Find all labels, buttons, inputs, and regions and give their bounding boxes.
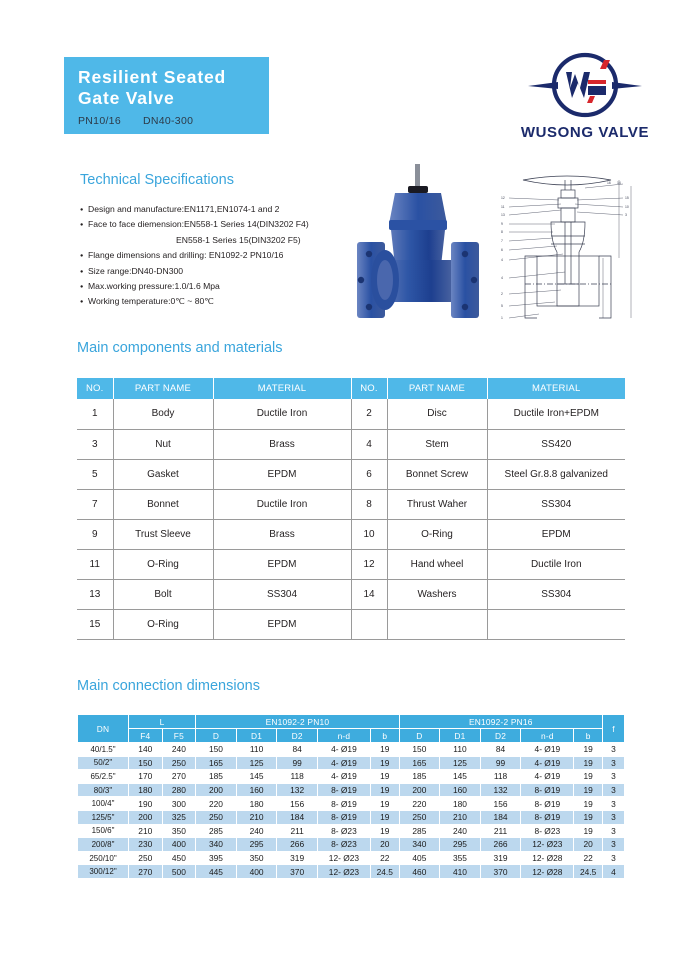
sub-pn16-nd: n-d xyxy=(521,729,574,743)
cell-pn10-d2: 370 xyxy=(277,865,318,879)
cell-pn16-d: 285 xyxy=(399,824,440,838)
cell-no: 8 xyxy=(351,489,387,519)
cell-pn10-d: 150 xyxy=(196,743,237,757)
cell-pn16-b: 20 xyxy=(574,838,603,852)
cell-f4: 270 xyxy=(129,865,163,879)
cell-pn10-b: 19 xyxy=(370,770,399,784)
cell-pn10-d1: 145 xyxy=(236,770,277,784)
sub-f5: F5 xyxy=(162,729,196,743)
cell-dn: 65/2.5" xyxy=(78,770,129,784)
cell-material: Ductile Iron xyxy=(213,489,351,519)
group-dn: DN xyxy=(78,715,129,743)
cell-material: SS304 xyxy=(213,579,351,609)
cell-pn16-d: 165 xyxy=(399,756,440,770)
cell-pn10-d2: 132 xyxy=(277,783,318,797)
table-row: 15O-RingEPDM xyxy=(77,609,625,639)
sub-pn16-d: D xyxy=(399,729,440,743)
cell-f4: 250 xyxy=(129,851,163,865)
cell-no: 1 xyxy=(77,399,113,429)
col-material-left: MATERIAL xyxy=(213,378,351,399)
cell-pn16-d1: 145 xyxy=(440,770,481,784)
cell-no: 9 xyxy=(77,519,113,549)
col-no-left: NO. xyxy=(77,378,113,399)
cell-pn10-d: 340 xyxy=(196,838,237,852)
sub-pn10-d2: D2 xyxy=(277,729,318,743)
components-header-row: NO. PART NAME MATERIAL NO. PART NAME MAT… xyxy=(77,378,625,399)
cell-f4: 210 xyxy=(129,824,163,838)
cell-part: Bonnet xyxy=(113,489,213,519)
cell-pn16-nd: 8- Ø19 xyxy=(521,797,574,811)
cell-f4: 140 xyxy=(129,743,163,757)
title-banner: Resilient SeatedGate Valve PN10/16DN40-3… xyxy=(64,57,269,134)
cell-f: 3 xyxy=(603,797,625,811)
svg-text:4: 4 xyxy=(501,258,503,262)
cell-pn16-d1: 410 xyxy=(440,865,481,879)
table-row: 80/3"1802802001601328- Ø19192001601328- … xyxy=(78,783,625,797)
cell-pn10-d2: 184 xyxy=(277,810,318,824)
cell-dn: 250/10" xyxy=(78,851,129,865)
cell-pn16-d2: 156 xyxy=(480,797,521,811)
cell-no: 13 xyxy=(77,579,113,609)
cell-pn16-d1: 110 xyxy=(440,743,481,757)
table-row: 250/10"25045039535031912- Ø2322405355319… xyxy=(78,851,625,865)
cell-f: 4 xyxy=(603,865,625,879)
cell-pn10-d1: 125 xyxy=(236,756,277,770)
cell-pn16-nd: 8- Ø23 xyxy=(521,824,574,838)
cell-part: Disc xyxy=(387,399,487,429)
product-title: Resilient SeatedGate Valve xyxy=(78,67,269,109)
cell-pn16-d2: 266 xyxy=(480,838,521,852)
cell-pn10-d: 395 xyxy=(196,851,237,865)
table-row: 13BoltSS30414WashersSS304 xyxy=(77,579,625,609)
cell-material: Ductile Iron xyxy=(213,399,351,429)
cell-pn16-d2: 211 xyxy=(480,824,521,838)
cell-pn10-d2: 84 xyxy=(277,743,318,757)
cell-f4: 200 xyxy=(129,810,163,824)
svg-text:3: 3 xyxy=(625,213,627,217)
cell-pn10-d2: 99 xyxy=(277,756,318,770)
cell-pn16-d1: 180 xyxy=(440,797,481,811)
cell-dn: 300/12" xyxy=(78,865,129,879)
table-row: 1BodyDuctile Iron2DiscDuctile Iron+EPDM xyxy=(77,399,625,429)
group-f: f xyxy=(603,715,625,743)
cell-pn10-d1: 350 xyxy=(236,851,277,865)
components-heading: Main components and materials xyxy=(77,340,625,356)
cell-no: 12 xyxy=(351,549,387,579)
cell-pn16-nd: 12- Ø23 xyxy=(521,838,574,852)
cell-pn10-d: 285 xyxy=(196,824,237,838)
sub-pn10-d1: D1 xyxy=(236,729,277,743)
svg-text:5: 5 xyxy=(501,304,503,308)
main-connection-dimensions-section: Main connection dimensions DN L EN1092-2… xyxy=(77,678,625,879)
svg-text:8: 8 xyxy=(501,230,503,234)
cell-f: 3 xyxy=(603,783,625,797)
table-row: 300/12"27050044540037012- Ø2324.54604103… xyxy=(78,865,625,879)
pressure-rating: PN10/16 xyxy=(78,115,121,127)
svg-text:11: 11 xyxy=(501,205,505,209)
cell-pn10-d: 220 xyxy=(196,797,237,811)
cell-pn10-b: 19 xyxy=(370,824,399,838)
cell-pn16-d2: 84 xyxy=(480,743,521,757)
cell-pn10-d1: 240 xyxy=(236,824,277,838)
cell-pn10-d: 185 xyxy=(196,770,237,784)
dimensions-body: 40/1.5"140240150110844- Ø1919150110844- … xyxy=(78,743,625,879)
table-row: 3NutBrass4StemSS420 xyxy=(77,429,625,459)
cell-part: Thrust Waher xyxy=(387,489,487,519)
cell-f4: 190 xyxy=(129,797,163,811)
cell-pn16-d1: 355 xyxy=(440,851,481,865)
cell-pn16-nd: 8- Ø19 xyxy=(521,810,574,824)
cell-pn10-b: 19 xyxy=(370,756,399,770)
cell-dn: 150/6" xyxy=(78,824,129,838)
cell-no xyxy=(351,609,387,639)
cell-pn10-nd: 4- Ø19 xyxy=(317,770,370,784)
cell-material: EPDM xyxy=(487,519,625,549)
cell-part: O-Ring xyxy=(113,609,213,639)
cell-pn10-b: 19 xyxy=(370,797,399,811)
cell-pn10-d2: 118 xyxy=(277,770,318,784)
cell-pn10-d: 445 xyxy=(196,865,237,879)
cell-pn16-nd: 4- Ø19 xyxy=(521,743,574,757)
cell-pn16-d2: 319 xyxy=(480,851,521,865)
brand-name: WUSONG VALVE xyxy=(500,124,670,141)
cell-pn16-nd: 12- Ø28 xyxy=(521,851,574,865)
cell-pn10-d1: 295 xyxy=(236,838,277,852)
svg-text:13: 13 xyxy=(501,213,505,217)
cell-f5: 450 xyxy=(162,851,196,865)
cell-pn10-b: 19 xyxy=(370,783,399,797)
cell-no: 4 xyxy=(351,429,387,459)
cell-material: SS304 xyxy=(487,489,625,519)
cell-pn16-b: 19 xyxy=(574,756,603,770)
cell-pn16-d1: 240 xyxy=(440,824,481,838)
dimensions-group-header-row: DN L EN1092-2 PN10 EN1092-2 PN16 f xyxy=(78,715,625,729)
group-pn10: EN1092-2 PN10 xyxy=(196,715,399,729)
cell-pn10-d2: 266 xyxy=(277,838,318,852)
svg-text:4: 4 xyxy=(501,276,503,280)
cell-f5: 250 xyxy=(162,756,196,770)
col-partname-right: PART NAME xyxy=(387,378,487,399)
cell-pn10-d1: 180 xyxy=(236,797,277,811)
table-row: 150/6"2103502852402118- Ø23192852402118-… xyxy=(78,824,625,838)
cell-pn16-d2: 184 xyxy=(480,810,521,824)
cell-pn16-d1: 295 xyxy=(440,838,481,852)
cell-pn16-d: 150 xyxy=(399,743,440,757)
gate-valve-cross-section-drawing: 121113 987 644 251 15103 1416 xyxy=(495,166,640,326)
components-table: NO. PART NAME MATERIAL NO. PART NAME MAT… xyxy=(77,378,625,640)
sub-f4: F4 xyxy=(129,729,163,743)
cell-material xyxy=(487,609,625,639)
cell-pn16-nd: 4- Ø19 xyxy=(521,756,574,770)
cell-f4: 150 xyxy=(129,756,163,770)
cell-pn10-d2: 156 xyxy=(277,797,318,811)
cell-pn16-nd: 8- Ø19 xyxy=(521,783,574,797)
wusong-circle-w-logo-icon xyxy=(500,52,670,120)
cell-pn16-b: 24.5 xyxy=(574,865,603,879)
cell-part: Gasket xyxy=(113,459,213,489)
cell-f: 3 xyxy=(603,810,625,824)
cell-f5: 350 xyxy=(162,824,196,838)
product-title-line2: Gate Valve xyxy=(78,88,175,108)
cell-pn10-d1: 110 xyxy=(236,743,277,757)
cell-part: Nut xyxy=(113,429,213,459)
cell-no: 5 xyxy=(77,459,113,489)
cell-pn16-d2: 99 xyxy=(480,756,521,770)
cell-f: 3 xyxy=(603,851,625,865)
company-logo: WUSONG VALVE xyxy=(500,52,670,141)
cell-pn16-b: 19 xyxy=(574,743,603,757)
cell-f: 3 xyxy=(603,838,625,852)
cell-material: SS420 xyxy=(487,429,625,459)
cell-material: Steel Gr.8.8 galvanized xyxy=(487,459,625,489)
dimensions-heading: Main connection dimensions xyxy=(77,678,625,694)
cell-pn10-b: 24.5 xyxy=(370,865,399,879)
cell-pn16-d: 405 xyxy=(399,851,440,865)
cell-no: 15 xyxy=(77,609,113,639)
cell-dn: 40/1.5" xyxy=(78,743,129,757)
table-row: 50/2"150250165125994- Ø1919165125994- Ø1… xyxy=(78,756,625,770)
cell-f5: 280 xyxy=(162,783,196,797)
cell-material: Ductile Iron xyxy=(487,549,625,579)
cell-dn: 200/8" xyxy=(78,838,129,852)
cell-pn10-nd: 8- Ø19 xyxy=(317,810,370,824)
group-pn16: EN1092-2 PN16 xyxy=(399,715,602,729)
cell-no: 11 xyxy=(77,549,113,579)
cell-pn16-b: 19 xyxy=(574,783,603,797)
group-l: L xyxy=(129,715,196,729)
svg-text:14: 14 xyxy=(617,181,621,185)
cell-dn: 80/3" xyxy=(78,783,129,797)
cell-material: EPDM xyxy=(213,459,351,489)
product-title-line1: Resilient Seated xyxy=(78,67,226,87)
cell-material: EPDM xyxy=(213,609,351,639)
cell-pn16-b: 19 xyxy=(574,797,603,811)
cell-part: Bolt xyxy=(113,579,213,609)
cell-pn16-b: 19 xyxy=(574,770,603,784)
cell-pn16-b: 22 xyxy=(574,851,603,865)
svg-text:6: 6 xyxy=(501,248,503,252)
cell-f5: 240 xyxy=(162,743,196,757)
cell-pn10-nd: 8- Ø19 xyxy=(317,797,370,811)
cell-pn10-d: 165 xyxy=(196,756,237,770)
dimensions-sub-header-row: F4 F5 D D1 D2 n-d b D D1 D2 n-d b xyxy=(78,729,625,743)
cell-pn16-d1: 160 xyxy=(440,783,481,797)
cell-f: 3 xyxy=(603,770,625,784)
table-row: 200/8"2304003402952668- Ø232034029526612… xyxy=(78,838,625,852)
table-row: 9Trust SleeveBrass10O-RingEPDM xyxy=(77,519,625,549)
table-row: 5GasketEPDM6Bonnet ScrewSteel Gr.8.8 gal… xyxy=(77,459,625,489)
col-partname-left: PART NAME xyxy=(113,378,213,399)
cell-pn16-d: 340 xyxy=(399,838,440,852)
cell-pn16-b: 19 xyxy=(574,810,603,824)
main-components-section: Main components and materials NO. PART N… xyxy=(77,340,625,640)
cell-f4: 180 xyxy=(129,783,163,797)
cell-f4: 170 xyxy=(129,770,163,784)
cell-pn16-b: 19 xyxy=(574,824,603,838)
cell-pn10-d2: 211 xyxy=(277,824,318,838)
cell-pn16-d1: 210 xyxy=(440,810,481,824)
cell-f5: 300 xyxy=(162,797,196,811)
dimensions-table: DN L EN1092-2 PN10 EN1092-2 PN16 f F4 F5… xyxy=(77,714,625,879)
cell-f4: 230 xyxy=(129,838,163,852)
cell-part: Stem xyxy=(387,429,487,459)
cell-pn16-d2: 370 xyxy=(480,865,521,879)
cell-pn10-nd: 8- Ø23 xyxy=(317,824,370,838)
sub-pn10-d: D xyxy=(196,729,237,743)
cell-pn10-b: 20 xyxy=(370,838,399,852)
cell-material: SS304 xyxy=(487,579,625,609)
cell-pn10-d1: 400 xyxy=(236,865,277,879)
cell-material: Ductile Iron+EPDM xyxy=(487,399,625,429)
svg-text:16: 16 xyxy=(607,181,611,185)
cell-no: 6 xyxy=(351,459,387,489)
sub-pn16-d2: D2 xyxy=(480,729,521,743)
cell-pn16-d1: 125 xyxy=(440,756,481,770)
cell-part: Bonnet Screw xyxy=(387,459,487,489)
cell-dn: 100/4" xyxy=(78,797,129,811)
cell-pn16-d: 200 xyxy=(399,783,440,797)
cell-pn10-nd: 4- Ø19 xyxy=(317,743,370,757)
product-subtitle: PN10/16DN40-300 xyxy=(78,115,269,127)
cell-f: 3 xyxy=(603,756,625,770)
blue-flanged-gate-valve-photo xyxy=(343,162,503,330)
cell-part: Washers xyxy=(387,579,487,609)
cell-pn10-nd: 12- Ø23 xyxy=(317,865,370,879)
cell-dn: 125/5" xyxy=(78,810,129,824)
cell-pn16-d: 185 xyxy=(399,770,440,784)
cell-f5: 500 xyxy=(162,865,196,879)
svg-text:7: 7 xyxy=(501,239,503,243)
cell-pn16-d: 250 xyxy=(399,810,440,824)
cell-pn10-nd: 4- Ø19 xyxy=(317,756,370,770)
cell-pn16-d: 460 xyxy=(399,865,440,879)
cell-part: O-Ring xyxy=(113,549,213,579)
cell-no: 10 xyxy=(351,519,387,549)
table-row: 65/2.5"1702701851451184- Ø19191851451184… xyxy=(78,770,625,784)
cell-no: 2 xyxy=(351,399,387,429)
col-material-right: MATERIAL xyxy=(487,378,625,399)
svg-text:15: 15 xyxy=(625,196,629,200)
cell-f: 3 xyxy=(603,824,625,838)
cell-pn10-d: 200 xyxy=(196,783,237,797)
table-row: 7BonnetDuctile Iron8Thrust WaherSS304 xyxy=(77,489,625,519)
sub-pn10-b: b xyxy=(370,729,399,743)
svg-text:9: 9 xyxy=(501,222,503,226)
components-body: 1BodyDuctile Iron2DiscDuctile Iron+EPDM … xyxy=(77,399,625,639)
page-header: Resilient SeatedGate Valve PN10/16DN40-3… xyxy=(0,0,700,150)
svg-text:12: 12 xyxy=(501,196,505,200)
svg-text:10: 10 xyxy=(625,205,629,209)
cell-f5: 270 xyxy=(162,770,196,784)
cell-pn10-b: 19 xyxy=(370,810,399,824)
table-row: 125/5"2003252502101848- Ø19192502101848-… xyxy=(78,810,625,824)
cell-part: Hand wheel xyxy=(387,549,487,579)
table-row: 40/1.5"140240150110844- Ø1919150110844- … xyxy=(78,743,625,757)
cell-part: Body xyxy=(113,399,213,429)
cell-pn10-b: 19 xyxy=(370,743,399,757)
cell-pn10-b: 22 xyxy=(370,851,399,865)
cell-pn10-d1: 160 xyxy=(236,783,277,797)
sub-pn16-b: b xyxy=(574,729,603,743)
cell-f: 3 xyxy=(603,743,625,757)
cell-part xyxy=(387,609,487,639)
size-range: DN40-300 xyxy=(143,115,193,127)
svg-text:1: 1 xyxy=(501,316,503,320)
cell-pn10-d1: 210 xyxy=(236,810,277,824)
cell-f5: 325 xyxy=(162,810,196,824)
cell-material: Brass xyxy=(213,429,351,459)
sub-pn10-nd: n-d xyxy=(317,729,370,743)
cell-material: EPDM xyxy=(213,549,351,579)
cell-no: 7 xyxy=(77,489,113,519)
cell-pn16-d: 220 xyxy=(399,797,440,811)
cell-pn16-d2: 132 xyxy=(480,783,521,797)
cell-no: 14 xyxy=(351,579,387,609)
cell-pn16-nd: 4- Ø19 xyxy=(521,770,574,784)
table-row: 100/4"1903002201801568- Ø19192201801568-… xyxy=(78,797,625,811)
cell-part: Trust Sleeve xyxy=(113,519,213,549)
col-no-right: NO. xyxy=(351,378,387,399)
cell-pn10-nd: 8- Ø23 xyxy=(317,838,370,852)
cell-part: O-Ring xyxy=(387,519,487,549)
cell-pn10-nd: 8- Ø19 xyxy=(317,783,370,797)
cell-pn16-nd: 12- Ø28 xyxy=(521,865,574,879)
cell-pn10-nd: 12- Ø23 xyxy=(317,851,370,865)
cell-pn16-d2: 118 xyxy=(480,770,521,784)
cell-dn: 50/2" xyxy=(78,756,129,770)
cell-f5: 400 xyxy=(162,838,196,852)
table-row: 11O-RingEPDM12Hand wheelDuctile Iron xyxy=(77,549,625,579)
svg-text:2: 2 xyxy=(501,292,503,296)
cell-pn10-d: 250 xyxy=(196,810,237,824)
cell-pn10-d2: 319 xyxy=(277,851,318,865)
cell-material: Brass xyxy=(213,519,351,549)
sub-pn16-d1: D1 xyxy=(440,729,481,743)
cell-no: 3 xyxy=(77,429,113,459)
